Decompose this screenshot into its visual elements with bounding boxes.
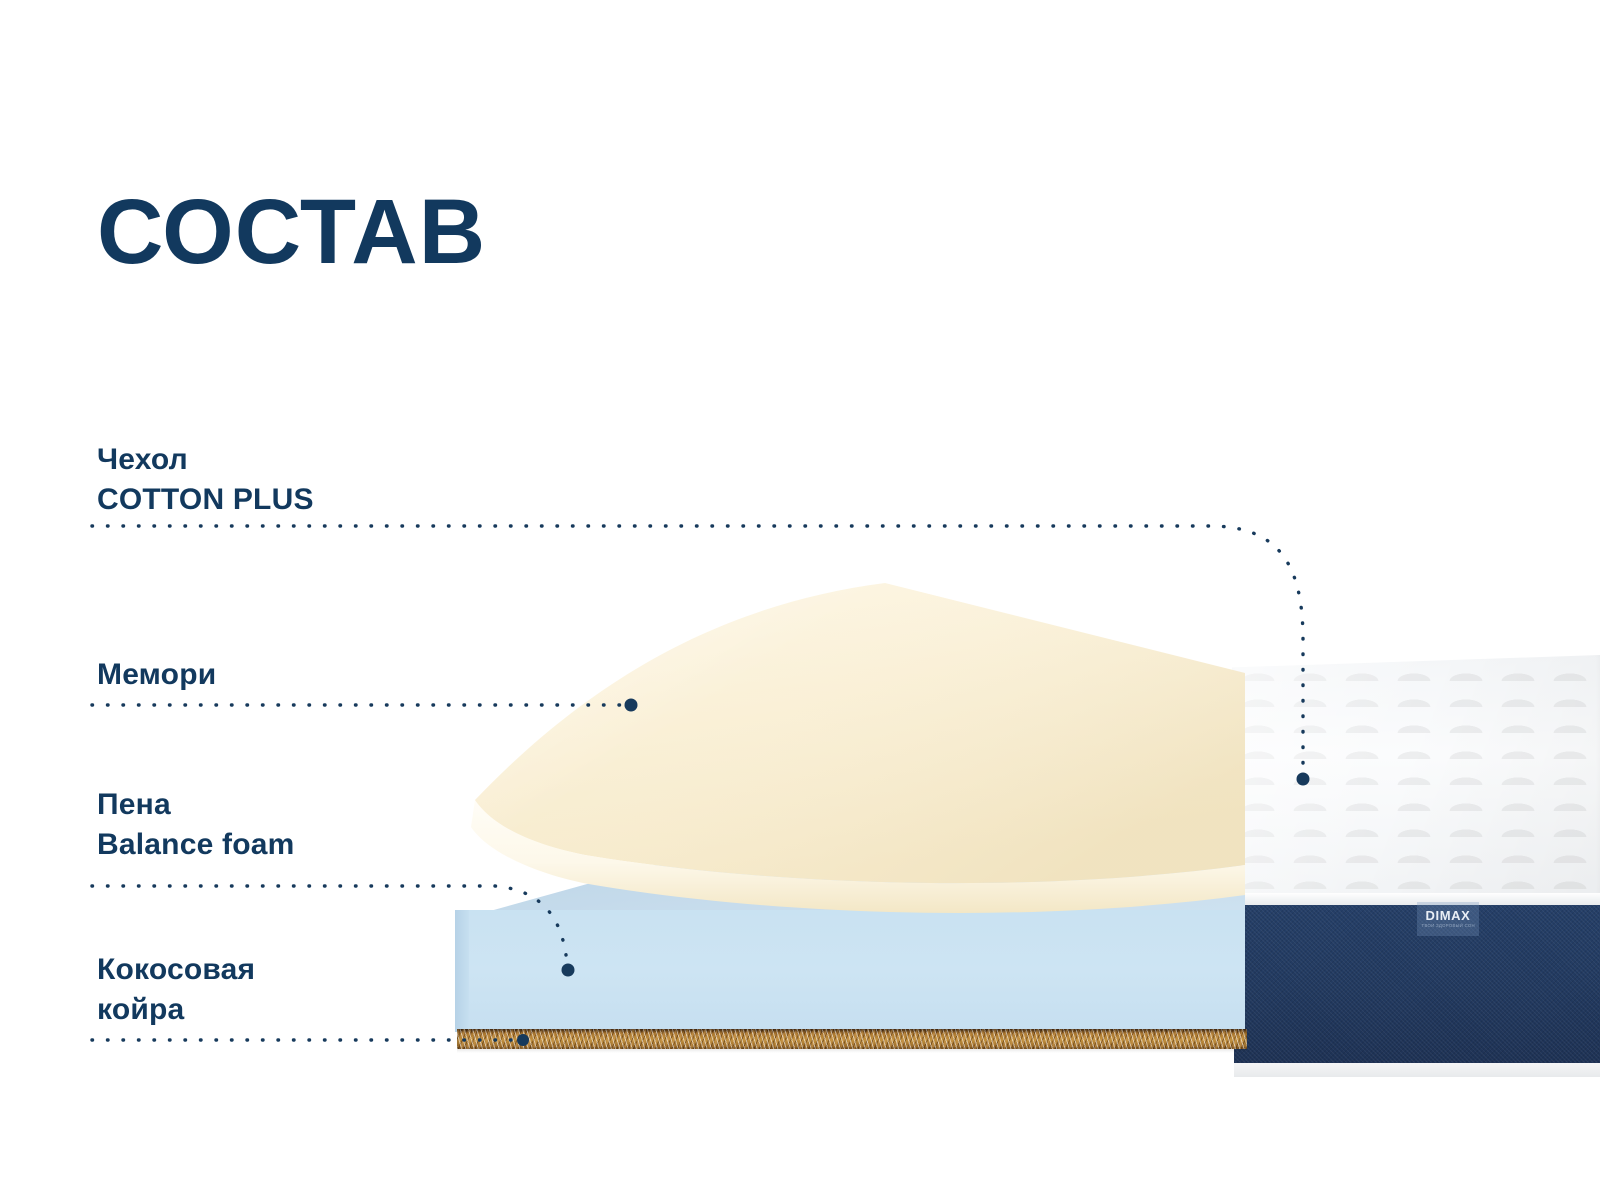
- layer-label-coir-line1: Кокосовая: [97, 950, 255, 990]
- cover-sheen-overlay: [1232, 655, 1600, 905]
- layer-label-foam-line2: Balance foam: [97, 825, 294, 865]
- dimax-brand-subtext: ТВОИ ЗДОРОВЫЙ СОН: [1421, 924, 1474, 928]
- layer-label-cover: Чехол COTTON PLUS: [97, 440, 314, 520]
- dimax-brand-text: DIMAX: [1426, 909, 1471, 922]
- layer-label-memory: Мемори: [97, 655, 216, 695]
- coconut-coir-layer: [457, 1029, 1247, 1049]
- coconut-coir-shadow: [457, 1047, 1247, 1053]
- balance-foam-front-face: [455, 910, 1245, 1032]
- dimax-brand-tag: DIMAX ТВОИ ЗДОРОВЫЙ СОН: [1417, 902, 1479, 936]
- mattress-bottom-edge: [1234, 1063, 1600, 1077]
- memory-foam-sheet: [465, 565, 1245, 925]
- layer-label-cover-line2: COTTON PLUS: [97, 480, 314, 520]
- balance-foam-left-face: [455, 910, 469, 1032]
- layer-label-foam: Пена Balance foam: [97, 785, 294, 865]
- memory-foam-sheen: [475, 583, 1245, 883]
- slide-canvas: СОСТАВ DIMAX ТВОИ ЗДОРОВЫЙ СОН: [0, 0, 1600, 1200]
- layer-label-cover-line1: Чехол: [97, 440, 314, 480]
- layer-label-foam-line1: Пена: [97, 785, 294, 825]
- layer-label-coir: Кокосовая койра: [97, 950, 255, 1030]
- layer-label-coir-line2: койра: [97, 990, 255, 1030]
- layer-label-memory-line1: Мемори: [97, 655, 216, 695]
